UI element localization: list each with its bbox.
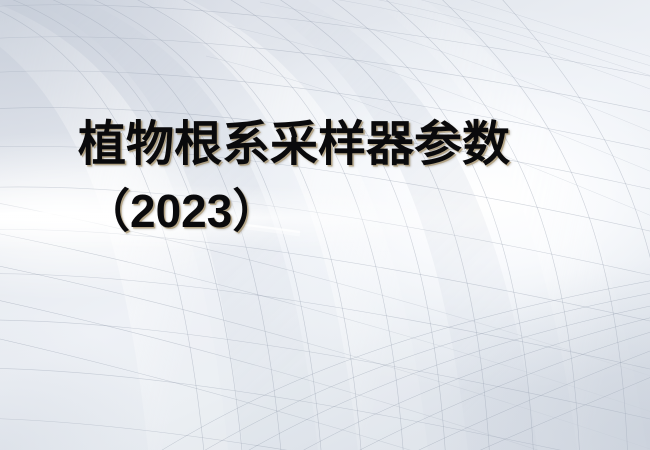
slide-title-line-1: 植物根系采样器参数 xyxy=(0,118,650,172)
slide-canvas: 植物根系采样器参数 （2023） xyxy=(0,0,650,450)
slide-title-line-2: （2023） xyxy=(0,186,650,238)
slide-title-block: 植物根系采样器参数 （2023） xyxy=(0,118,650,237)
